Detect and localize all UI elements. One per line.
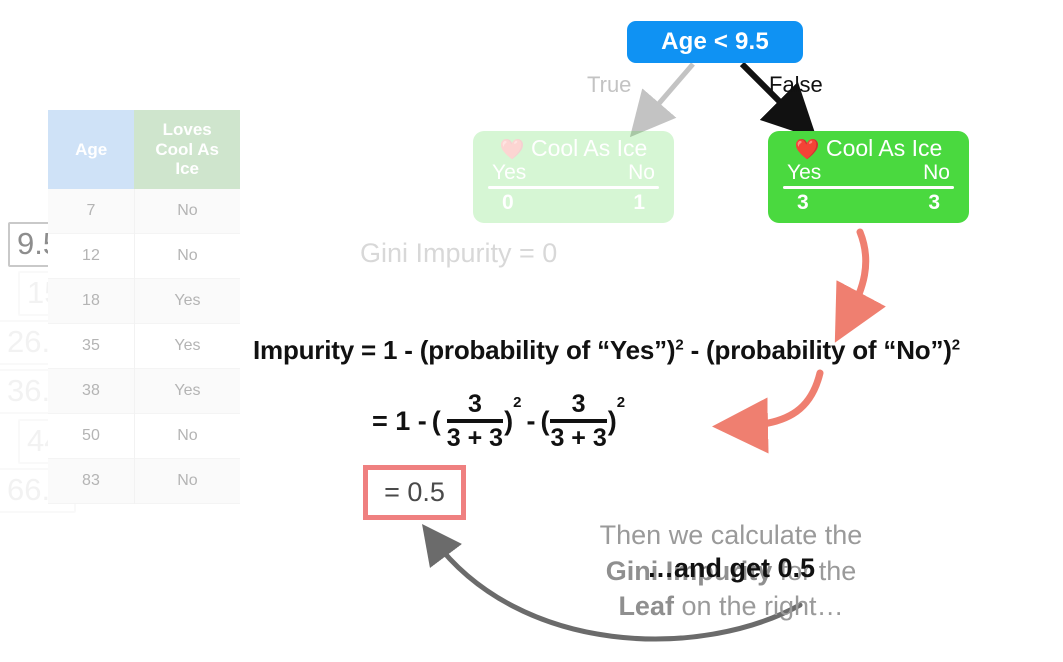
slide-canvas: 9.5 15 26.5 36.5 44 66.5 Age Loves Cool … xyxy=(0,0,1063,662)
left-leaf-gini-label: Gini Impurity = 0 xyxy=(360,238,557,269)
fraction-2-open-paren: ( xyxy=(540,406,549,437)
loves-header-line-1: Loves xyxy=(163,120,212,139)
table-row: 50 No xyxy=(48,413,240,458)
leaf-right-val-no: 3 xyxy=(928,191,940,214)
impurity-result-value: = 0.5 xyxy=(384,477,445,508)
fraction-1-close-paren: ) xyxy=(504,406,513,437)
leaf-left-columns: Yes No xyxy=(484,161,663,184)
data-table-head: Age Loves Cool As Ice xyxy=(48,110,240,189)
leaf-right-val-yes: 3 xyxy=(797,191,809,214)
impurity-formula-sup-2: 2 xyxy=(952,336,960,353)
data-table-wrapper: Age Loves Cool As Ice 7 No 12 No xyxy=(48,110,240,504)
cell-loves: No xyxy=(134,413,240,458)
loves-header-line-3: Ice xyxy=(175,159,199,178)
fraction-2-exponent: 2 xyxy=(617,394,625,411)
leaf-right-values: 3 3 xyxy=(779,191,958,214)
cell-age: 35 xyxy=(48,323,134,368)
fraction-1: 3 3 + 3 xyxy=(447,392,503,451)
fraction-2-numerator: 3 xyxy=(572,392,586,417)
cell-loves: No xyxy=(134,189,240,234)
data-table: Age Loves Cool As Ice 7 No 12 No xyxy=(48,110,240,504)
leaf-left-values: 0 1 xyxy=(484,191,663,214)
edge-label-true: True xyxy=(587,72,631,98)
fraction-1-denominator: 3 + 3 xyxy=(447,425,503,451)
impurity-formula-mid: - (probability of “No”) xyxy=(684,335,952,365)
leaf-left-title: Cool As Ice xyxy=(531,135,647,161)
impurity-formula-line: Impurity = 1 - (probability of “Yes”)2 -… xyxy=(253,335,960,366)
leaf-left-val-yes: 0 xyxy=(502,191,514,214)
leaf-right-columns: Yes No xyxy=(779,161,958,184)
cell-age: 12 xyxy=(48,233,134,278)
fraction-1-bar xyxy=(447,419,503,423)
impurity-result-box: = 0.5 xyxy=(363,465,466,520)
caption-gray-line-3-rest: on the right… xyxy=(674,591,844,621)
impurity-formula-sup-1: 2 xyxy=(675,336,683,353)
table-row: 18 Yes xyxy=(48,278,240,323)
salmon-arrow-to-fraction xyxy=(740,373,820,426)
table-row: 83 No xyxy=(48,458,240,503)
fraction-2: 3 3 + 3 xyxy=(550,392,606,451)
heart-icon: ❤️ xyxy=(795,139,820,161)
cell-loves: No xyxy=(134,233,240,278)
fraction-2-denominator: 3 + 3 xyxy=(550,425,606,451)
leaf-left-title-row: ❤️ Cool As Ice xyxy=(484,136,663,161)
impurity-fraction-line: = 1 - ( 3 3 + 3 )2 - ( 3 3 + 3 )2 xyxy=(372,392,625,451)
edge-true-arrow xyxy=(643,64,693,122)
heart-icon: ❤️ xyxy=(500,139,525,161)
leaf-right-title: Cool As Ice xyxy=(826,135,942,161)
leaf-right-col-yes: Yes xyxy=(787,161,821,184)
tree-root-node[interactable]: Age < 9.5 xyxy=(627,21,803,63)
cell-age: 18 xyxy=(48,278,134,323)
cell-age: 38 xyxy=(48,368,134,413)
cell-loves: Yes xyxy=(134,368,240,413)
cell-age: 50 xyxy=(48,413,134,458)
fraction-2-bar xyxy=(550,419,606,423)
table-row: 12 No xyxy=(48,233,240,278)
cell-age: 7 xyxy=(48,189,134,234)
fraction-1-open-paren: ( xyxy=(432,406,441,437)
cell-loves: Yes xyxy=(134,323,240,368)
cell-loves: Yes xyxy=(134,278,240,323)
leaf-left-divider xyxy=(488,186,659,189)
table-header-row: Age Loves Cool As Ice xyxy=(48,110,240,189)
leaf-left-col-yes: Yes xyxy=(492,161,526,184)
caption-black-text: …and get 0.5 xyxy=(647,553,815,583)
table-row: 35 Yes xyxy=(48,323,240,368)
caption-current-state: …and get 0.5 xyxy=(566,551,896,587)
tree-root-label: Age < 9.5 xyxy=(661,28,769,56)
cell-age: 83 xyxy=(48,458,134,503)
table-row: 7 No xyxy=(48,189,240,234)
fraction-1-numerator: 3 xyxy=(468,392,482,417)
edge-label-false: False xyxy=(769,72,823,98)
fraction-line-equals: = 1 - xyxy=(372,406,427,437)
column-header-age: Age xyxy=(48,110,134,189)
impurity-formula-prefix: Impurity = 1 - (probability of “Yes”) xyxy=(253,335,675,365)
caption-gray-line-1: Then we calculate the xyxy=(600,520,863,550)
fraction-1-exponent: 2 xyxy=(513,394,521,411)
leaf-right-col-no: No xyxy=(923,161,950,184)
fraction-2-close-paren: ) xyxy=(608,406,617,437)
tree-leaf-right[interactable]: ❤️ Cool As Ice Yes No 3 3 xyxy=(768,131,969,223)
salmon-arrow-to-formula xyxy=(848,232,866,318)
fraction-minus-operator: - xyxy=(526,406,535,437)
cell-loves: No xyxy=(134,458,240,503)
column-header-loves: Loves Cool As Ice xyxy=(134,110,240,189)
leaf-left-col-no: No xyxy=(628,161,655,184)
leaf-right-divider xyxy=(783,186,954,189)
leaf-left-val-no: 1 xyxy=(633,191,645,214)
data-table-body: 7 No 12 No 18 Yes 35 Yes 38 Yes xyxy=(48,189,240,504)
caption-gray-bold-leaf: Leaf xyxy=(618,591,674,621)
loves-header-line-2: Cool As xyxy=(155,140,219,159)
tree-leaf-left[interactable]: ❤️ Cool As Ice Yes No 0 1 xyxy=(473,131,674,223)
leaf-right-title-row: ❤️ Cool As Ice xyxy=(779,136,958,161)
table-row: 38 Yes xyxy=(48,368,240,413)
